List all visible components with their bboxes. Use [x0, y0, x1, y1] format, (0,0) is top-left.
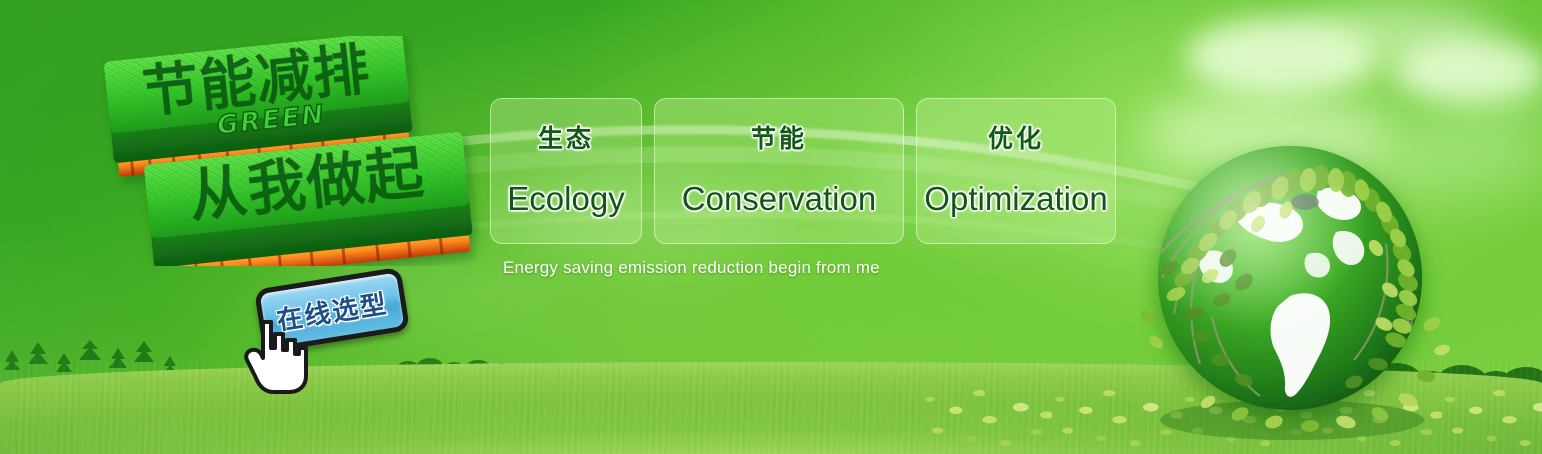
- card-cn-label: 生态: [538, 127, 594, 152]
- hand-pointer-icon: [243, 318, 313, 396]
- card-cn-label: 节能: [751, 127, 807, 152]
- card-en-label: Optimization: [924, 182, 1107, 215]
- cloud-icon: [1432, 60, 1542, 118]
- card-en-label: Ecology: [507, 182, 624, 215]
- feature-card-row: 生态 Ecology 节能 Conservation 优化 Optimizati…: [490, 98, 1116, 244]
- banner-tagline: Energy saving emission reduction begin f…: [503, 258, 880, 278]
- cloud-icon: [1395, 40, 1542, 102]
- cloud-icon: [1300, 4, 1500, 70]
- leafy-earth-globe: [1140, 128, 1460, 448]
- card-en-label: Conservation: [682, 182, 876, 215]
- feature-card-conservation[interactable]: 节能 Conservation: [654, 98, 904, 244]
- energy-saving-3d-logo: 节能减排 GREEN 从我做起: [100, 36, 490, 266]
- eco-banner: 节能减排 GREEN 从我做起: [0, 0, 1542, 454]
- cloud-icon: [1185, 18, 1375, 96]
- feature-card-ecology[interactable]: 生态 Ecology: [490, 98, 642, 244]
- card-cn-label: 优化: [988, 127, 1044, 152]
- feature-card-optimization[interactable]: 优化 Optimization: [916, 98, 1116, 244]
